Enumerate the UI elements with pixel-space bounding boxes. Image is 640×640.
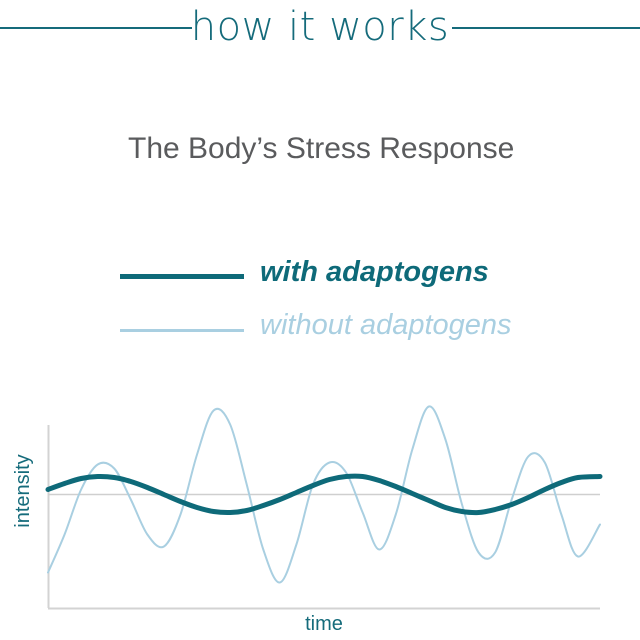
legend-line-swatch-light-blue xyxy=(120,329,244,332)
legend-item-with-adaptogens: with adaptogens xyxy=(120,252,590,292)
legend-item-without-adaptogens: without adaptogens xyxy=(120,305,590,345)
legend-line-swatch-teal xyxy=(120,274,244,279)
y-axis-label: intensity xyxy=(12,436,34,546)
stress-response-line-chart xyxy=(0,380,640,640)
chart-legend: with adaptogens without adaptogens xyxy=(0,252,640,352)
legend-label-with-adaptogens: with adaptogens xyxy=(260,252,489,292)
plot-area: intensity time xyxy=(0,380,640,640)
x-axis-label: time xyxy=(48,612,600,636)
header-title: how it works xyxy=(0,0,640,54)
legend-label-without-adaptogens: without adaptogens xyxy=(260,305,512,345)
chart-title: The Body’s Stress Response xyxy=(128,130,514,168)
header-band: how it works xyxy=(0,0,640,60)
